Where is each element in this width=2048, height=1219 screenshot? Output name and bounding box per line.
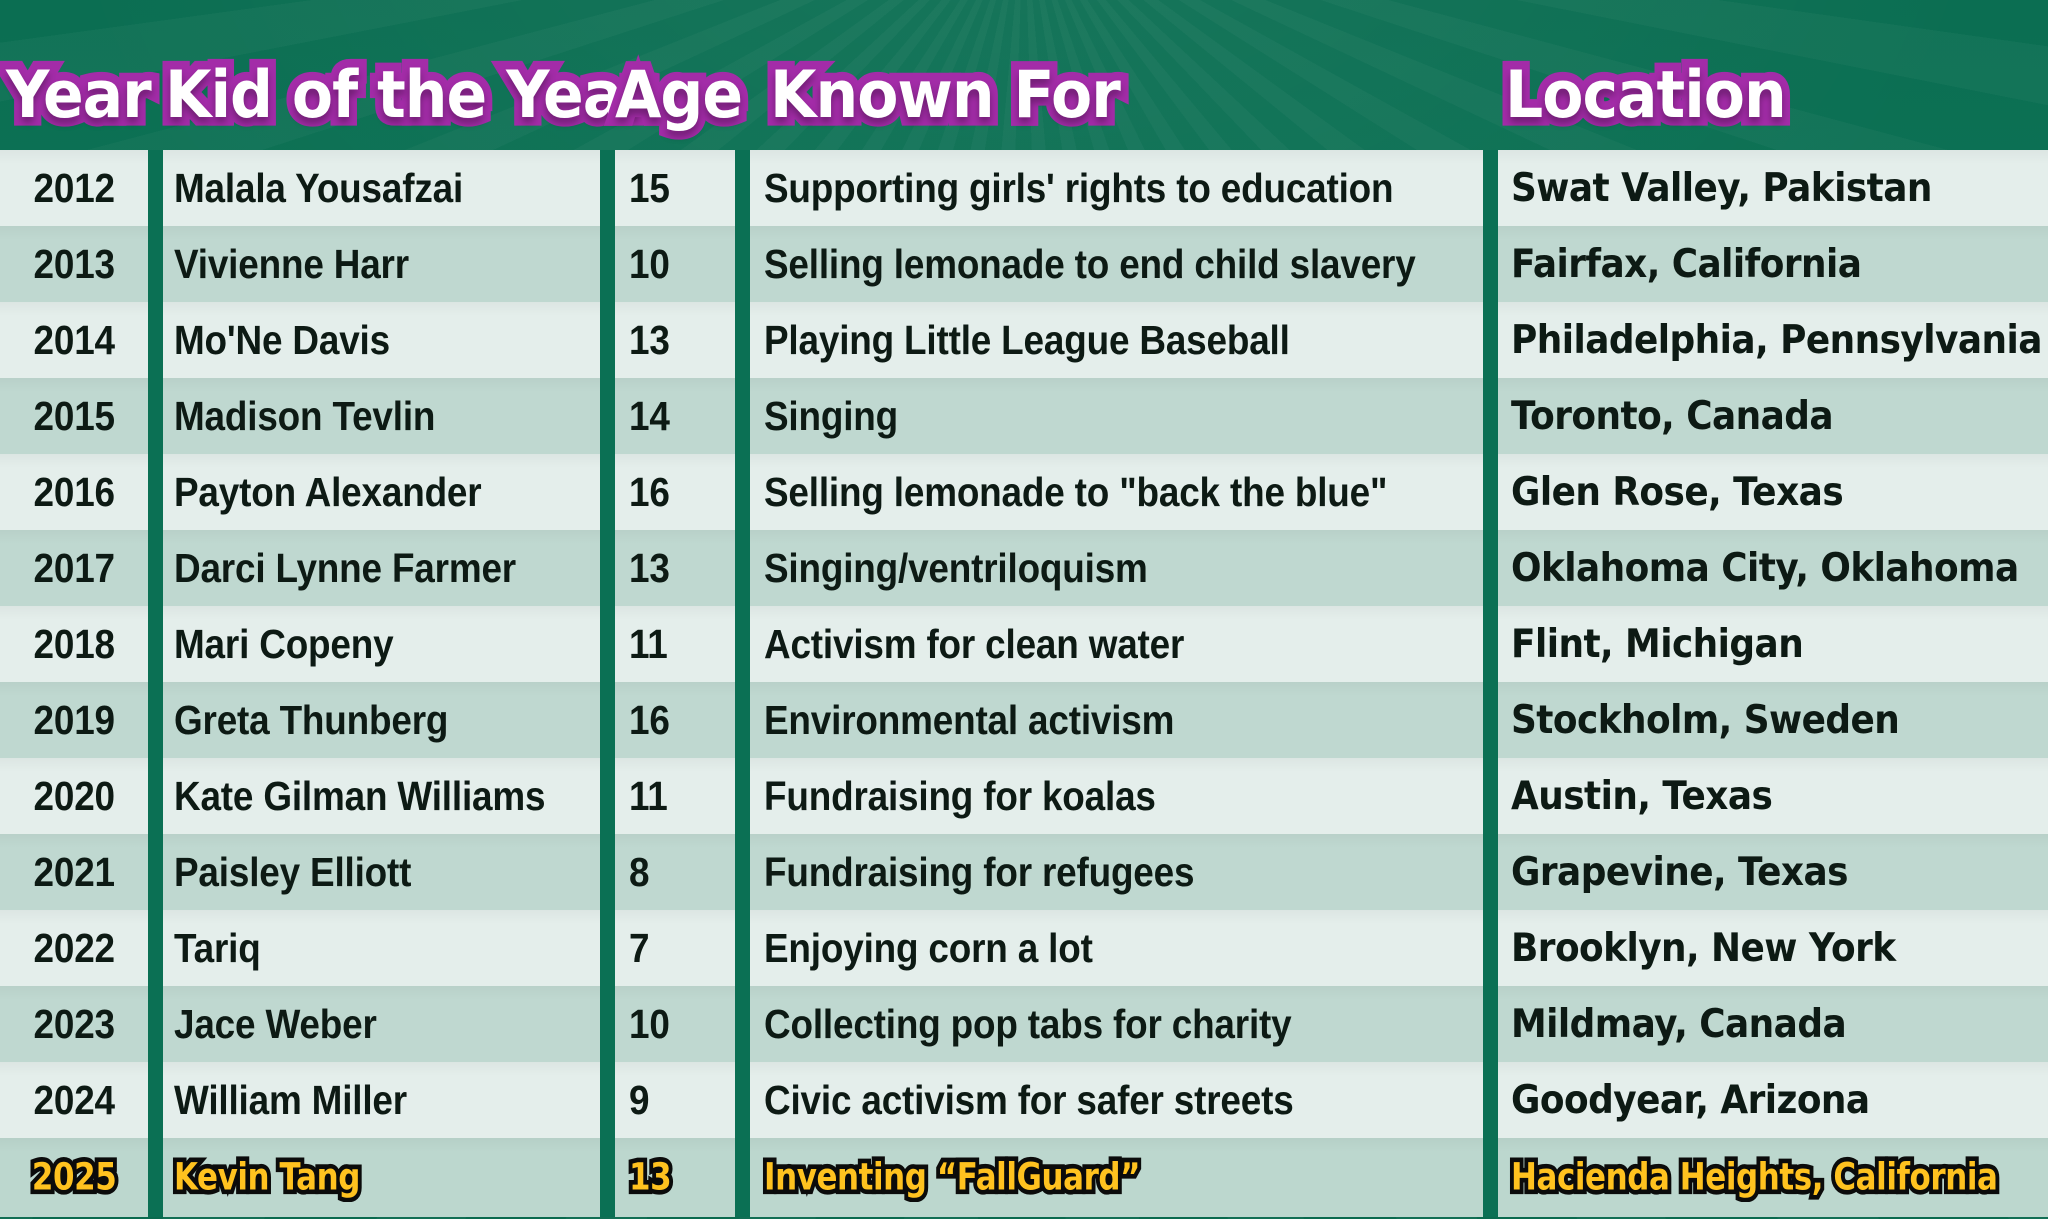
cell-name: William Miller xyxy=(162,1062,600,1138)
cell-name: Kevin Tang xyxy=(162,1138,600,1217)
table-header: Year Kid of the Year Age Known For Locat… xyxy=(0,0,2048,150)
cell-age-text: 11 xyxy=(629,773,668,820)
cell-year: 2025 xyxy=(0,1138,148,1217)
column-separator-3 xyxy=(735,910,750,986)
column-separator-3 xyxy=(735,530,750,606)
cell-location-text: Goodyear, Arizona xyxy=(1511,1078,1870,1123)
cell-known-for: Supporting girls' rights to education xyxy=(750,150,1483,226)
column-separator-1 xyxy=(148,1062,163,1138)
cell-age: 9 xyxy=(615,1062,735,1138)
cell-name-text: Kate Gilman Williams xyxy=(174,773,545,820)
cell-known-for: Fundraising for refugees xyxy=(750,834,1483,910)
column-separator-4 xyxy=(1483,530,1498,606)
cell-age: 10 xyxy=(615,986,735,1062)
cell-location-text: Grapevine, Texas xyxy=(1511,850,1848,895)
column-separator-4 xyxy=(1483,150,1498,226)
cell-name: Mari Copeny xyxy=(162,606,600,682)
column-separator-2 xyxy=(600,150,615,226)
cell-location: Grapevine, Texas xyxy=(1497,834,2048,910)
cell-name: Payton Alexander xyxy=(162,454,600,530)
cell-year-text: 2015 xyxy=(33,393,114,440)
cell-year: 2020 xyxy=(0,758,148,834)
cell-age: 15 xyxy=(615,150,735,226)
column-separator-1 xyxy=(148,530,163,606)
cell-location-text: Stockholm, Sweden xyxy=(1511,698,1899,743)
column-separator-2 xyxy=(600,378,615,454)
cell-location: Hacienda Heights, California xyxy=(1497,1138,2048,1217)
column-separator-3 xyxy=(735,986,750,1062)
column-separator-3 xyxy=(735,682,750,758)
cell-known-for-text: Inventing “FallGuard” xyxy=(764,1156,1140,1199)
cell-age: 10 xyxy=(615,226,735,302)
table-row: 2014Mo'Ne Davis13Playing Little League B… xyxy=(0,302,2048,378)
cell-location-text: Austin, Texas xyxy=(1511,774,1772,819)
column-separator-4 xyxy=(1483,1062,1498,1138)
column-separator-3 xyxy=(735,1062,750,1138)
cell-known-for-text: Civic activism for safer streets xyxy=(764,1077,1294,1124)
cell-location: Swat Valley, Pakistan xyxy=(1497,150,2048,226)
column-separator-2 xyxy=(600,682,615,758)
table-row: 2019Greta Thunberg16Environmental activi… xyxy=(0,682,2048,758)
table-row: 2025Kevin Tang13Inventing “FallGuard”Hac… xyxy=(0,1138,2048,1217)
cell-known-for-text: Supporting girls' rights to education xyxy=(764,165,1393,212)
cell-location: Brooklyn, New York xyxy=(1497,910,2048,986)
cell-age-text: 13 xyxy=(629,317,670,364)
cell-name: Tariq xyxy=(162,910,600,986)
cell-name-text: Tariq xyxy=(174,925,261,972)
column-separator-3 xyxy=(735,454,750,530)
cell-location-text: Flint, Michigan xyxy=(1511,622,1803,667)
cell-name-text: Malala Yousafzai xyxy=(174,165,463,212)
cell-age-text: 13 xyxy=(629,1156,671,1199)
column-separator-4 xyxy=(1483,758,1498,834)
cell-name: Greta Thunberg xyxy=(162,682,600,758)
cell-year-text: 2014 xyxy=(33,317,114,364)
column-separator-4 xyxy=(1483,910,1498,986)
cell-name: Jace Weber xyxy=(162,986,600,1062)
cell-known-for: Singing/ventriloquism xyxy=(750,530,1483,606)
table-row: 2016Payton Alexander16Selling lemonade t… xyxy=(0,454,2048,530)
cell-name: Madison Tevlin xyxy=(162,378,600,454)
column-header-location: Location xyxy=(1505,63,1786,128)
cell-location: Oklahoma City, Oklahoma xyxy=(1497,530,2048,606)
cell-age-text: 16 xyxy=(629,469,670,516)
cell-location: Philadelphia, Pennsylvania xyxy=(1497,302,2048,378)
cell-year-text: 2016 xyxy=(33,469,114,516)
column-separator-3 xyxy=(735,226,750,302)
cell-known-for-text: Singing/ventriloquism xyxy=(764,545,1148,592)
cell-year: 2014 xyxy=(0,302,148,378)
column-separator-3 xyxy=(735,150,750,226)
column-separator-2 xyxy=(600,530,615,606)
cell-age: 13 xyxy=(615,302,735,378)
column-separator-2 xyxy=(600,834,615,910)
column-separator-1 xyxy=(148,834,163,910)
column-separator-1 xyxy=(148,150,163,226)
cell-known-for: Selling lemonade to end child slavery xyxy=(750,226,1483,302)
table-row: 2015Madison Tevlin14SingingToronto, Cana… xyxy=(0,378,2048,454)
cell-year: 2018 xyxy=(0,606,148,682)
cell-year: 2021 xyxy=(0,834,148,910)
cell-name: Paisley Elliott xyxy=(162,834,600,910)
cell-known-for: Playing Little League Baseball xyxy=(750,302,1483,378)
table-row: 2017Darci Lynne Farmer13Singing/ventrilo… xyxy=(0,530,2048,606)
cell-age-text: 13 xyxy=(629,545,670,592)
cell-year-text: 2023 xyxy=(33,1001,114,1048)
cell-known-for-text: Selling lemonade to "back the blue" xyxy=(764,469,1387,516)
cell-age-text: 15 xyxy=(629,165,670,212)
cell-known-for: Civic activism for safer streets xyxy=(750,1062,1483,1138)
cell-age-text: 7 xyxy=(629,925,649,972)
column-separator-4 xyxy=(1483,834,1498,910)
cell-name-text: Madison Tevlin xyxy=(174,393,435,440)
cell-age-text: 9 xyxy=(629,1077,649,1124)
cell-name-text: Mo'Ne Davis xyxy=(174,317,390,364)
cell-known-for: Environmental activism xyxy=(750,682,1483,758)
cell-year: 2024 xyxy=(0,1062,148,1138)
cell-name: Darci Lynne Farmer xyxy=(162,530,600,606)
cell-year: 2017 xyxy=(0,530,148,606)
cell-name-text: Paisley Elliott xyxy=(174,849,411,896)
cell-location: Mildmay, Canada xyxy=(1497,986,2048,1062)
column-separator-4 xyxy=(1483,226,1498,302)
cell-age: 11 xyxy=(615,758,735,834)
column-separator-3 xyxy=(735,606,750,682)
column-separator-4 xyxy=(1483,986,1498,1062)
cell-location-text: Philadelphia, Pennsylvania xyxy=(1511,318,2042,363)
table-row: 2024William Miller9Civic activism for sa… xyxy=(0,1062,2048,1138)
cell-age: 13 xyxy=(615,530,735,606)
cell-known-for-text: Environmental activism xyxy=(764,697,1174,744)
cell-age: 13 xyxy=(615,1138,735,1217)
cell-age: 14 xyxy=(615,378,735,454)
column-header-year: Year xyxy=(6,63,151,128)
cell-name: Vivienne Harr xyxy=(162,226,600,302)
cell-year-text: 2022 xyxy=(33,925,114,972)
column-separator-2 xyxy=(600,302,615,378)
cell-name-text: Mari Copeny xyxy=(174,621,393,668)
column-separator-1 xyxy=(148,226,163,302)
column-separator-2 xyxy=(600,910,615,986)
table-row: 2021Paisley Elliott8Fundraising for refu… xyxy=(0,834,2048,910)
cell-year-text: 2012 xyxy=(33,165,114,212)
column-separator-2 xyxy=(600,1062,615,1138)
table-row: 2018Mari Copeny11Activism for clean wate… xyxy=(0,606,2048,682)
column-separator-4 xyxy=(1483,606,1498,682)
cell-year: 2019 xyxy=(0,682,148,758)
cell-year-text: 2021 xyxy=(33,849,114,896)
cell-known-for-text: Fundraising for refugees xyxy=(764,849,1194,896)
cell-age-text: 8 xyxy=(629,849,649,896)
cell-age: 11 xyxy=(615,606,735,682)
cell-name: Mo'Ne Davis xyxy=(162,302,600,378)
table-body: 2012Malala Yousafzai15Supporting girls' … xyxy=(0,150,2048,1219)
cell-known-for-text: Fundraising for koalas xyxy=(764,773,1156,820)
column-separator-2 xyxy=(600,986,615,1062)
table-row: 2013Vivienne Harr10Selling lemonade to e… xyxy=(0,226,2048,302)
cell-year: 2016 xyxy=(0,454,148,530)
cell-location-text: Glen Rose, Texas xyxy=(1511,470,1843,515)
table-row: 2023Jace Weber10Collecting pop tabs for … xyxy=(0,986,2048,1062)
cell-known-for-text: Enjoying corn a lot xyxy=(764,925,1093,972)
column-separator-1 xyxy=(148,986,163,1062)
cell-name-text: Payton Alexander xyxy=(174,469,481,516)
cell-known-for-text: Singing xyxy=(764,393,898,440)
cell-name-text: William Miller xyxy=(174,1077,407,1124)
column-separator-2 xyxy=(600,758,615,834)
column-separator-1 xyxy=(148,1138,163,1217)
cell-name-text: Kevin Tang xyxy=(174,1156,360,1199)
cell-known-for-text: Collecting pop tabs for charity xyxy=(764,1001,1291,1048)
cell-year-text: 2018 xyxy=(33,621,114,668)
table-row: 2022Tariq7Enjoying corn a lotBrooklyn, N… xyxy=(0,910,2048,986)
cell-age-text: 10 xyxy=(629,1001,670,1048)
cell-year: 2022 xyxy=(0,910,148,986)
cell-age-text: 10 xyxy=(629,241,670,288)
cell-location-text: Hacienda Heights, California xyxy=(1511,1156,1997,1199)
cell-age: 7 xyxy=(615,910,735,986)
column-separator-3 xyxy=(735,758,750,834)
cell-location: Toronto, Canada xyxy=(1497,378,2048,454)
cell-location-text: Fairfax, California xyxy=(1511,242,1861,287)
column-separator-2 xyxy=(600,226,615,302)
cell-location-text: Toronto, Canada xyxy=(1511,394,1833,439)
cell-age-text: 14 xyxy=(629,393,670,440)
cell-age-text: 11 xyxy=(629,621,668,668)
column-separator-1 xyxy=(148,378,163,454)
column-separator-4 xyxy=(1483,454,1498,530)
cell-location: Stockholm, Sweden xyxy=(1497,682,2048,758)
cell-age-text: 16 xyxy=(629,697,670,744)
column-separator-3 xyxy=(735,1138,750,1217)
cell-year-text: 2019 xyxy=(33,697,114,744)
cell-known-for-text: Playing Little League Baseball xyxy=(764,317,1290,364)
cell-known-for: Singing xyxy=(750,378,1483,454)
cell-location: Goodyear, Arizona xyxy=(1497,1062,2048,1138)
column-separator-4 xyxy=(1483,682,1498,758)
column-separator-2 xyxy=(600,606,615,682)
cell-year-text: 2024 xyxy=(33,1077,114,1124)
cell-known-for: Collecting pop tabs for charity xyxy=(750,986,1483,1062)
column-separator-1 xyxy=(148,682,163,758)
cell-year-text: 2013 xyxy=(33,241,114,288)
cell-year: 2013 xyxy=(0,226,148,302)
cell-location: Austin, Texas xyxy=(1497,758,2048,834)
column-separator-1 xyxy=(148,606,163,682)
column-separator-4 xyxy=(1483,378,1498,454)
column-separator-3 xyxy=(735,302,750,378)
cell-known-for: Fundraising for koalas xyxy=(750,758,1483,834)
cell-name: Malala Yousafzai xyxy=(162,150,600,226)
infographic-table: Year Kid of the Year Age Known For Locat… xyxy=(0,0,2048,1219)
cell-name-text: Vivienne Harr xyxy=(174,241,409,288)
cell-known-for: Enjoying corn a lot xyxy=(750,910,1483,986)
cell-year-text: 2020 xyxy=(33,773,114,820)
cell-year: 2023 xyxy=(0,986,148,1062)
column-separator-1 xyxy=(148,454,163,530)
cell-location-text: Mildmay, Canada xyxy=(1511,1002,1846,1047)
column-separator-2 xyxy=(600,1138,615,1217)
column-separator-3 xyxy=(735,834,750,910)
cell-location-text: Swat Valley, Pakistan xyxy=(1511,166,1932,211)
cell-age: 16 xyxy=(615,682,735,758)
cell-year-text: 2025 xyxy=(32,1156,116,1199)
column-header-known-for: Known For xyxy=(770,63,1120,128)
cell-location: Glen Rose, Texas xyxy=(1497,454,2048,530)
cell-year-text: 2017 xyxy=(33,545,114,592)
cell-known-for-text: Activism for clean water xyxy=(764,621,1184,668)
cell-age: 8 xyxy=(615,834,735,910)
cell-location: Fairfax, California xyxy=(1497,226,2048,302)
column-header-name: Kid of the Year xyxy=(165,63,651,128)
cell-name: Kate Gilman Williams xyxy=(162,758,600,834)
cell-year: 2012 xyxy=(0,150,148,226)
cell-location: Flint, Michigan xyxy=(1497,606,2048,682)
cell-location-text: Brooklyn, New York xyxy=(1511,926,1896,971)
cell-known-for: Activism for clean water xyxy=(750,606,1483,682)
table-row: 2020Kate Gilman Williams11Fundraising fo… xyxy=(0,758,2048,834)
cell-known-for: Selling lemonade to "back the blue" xyxy=(750,454,1483,530)
column-header-age: Age xyxy=(615,63,742,128)
column-separator-1 xyxy=(148,302,163,378)
column-separator-1 xyxy=(148,758,163,834)
cell-known-for: Inventing “FallGuard” xyxy=(750,1138,1483,1217)
column-separator-4 xyxy=(1483,302,1498,378)
cell-name-text: Jace Weber xyxy=(174,1001,377,1048)
cell-location-text: Oklahoma City, Oklahoma xyxy=(1511,546,2019,591)
column-separator-3 xyxy=(735,378,750,454)
cell-age: 16 xyxy=(615,454,735,530)
column-separator-4 xyxy=(1483,1138,1498,1217)
cell-year: 2015 xyxy=(0,378,148,454)
table-row: 2012Malala Yousafzai15Supporting girls' … xyxy=(0,150,2048,226)
cell-name-text: Greta Thunberg xyxy=(174,697,448,744)
column-separator-2 xyxy=(600,454,615,530)
cell-known-for-text: Selling lemonade to end child slavery xyxy=(764,241,1416,288)
column-separator-1 xyxy=(148,910,163,986)
cell-name-text: Darci Lynne Farmer xyxy=(174,545,516,592)
